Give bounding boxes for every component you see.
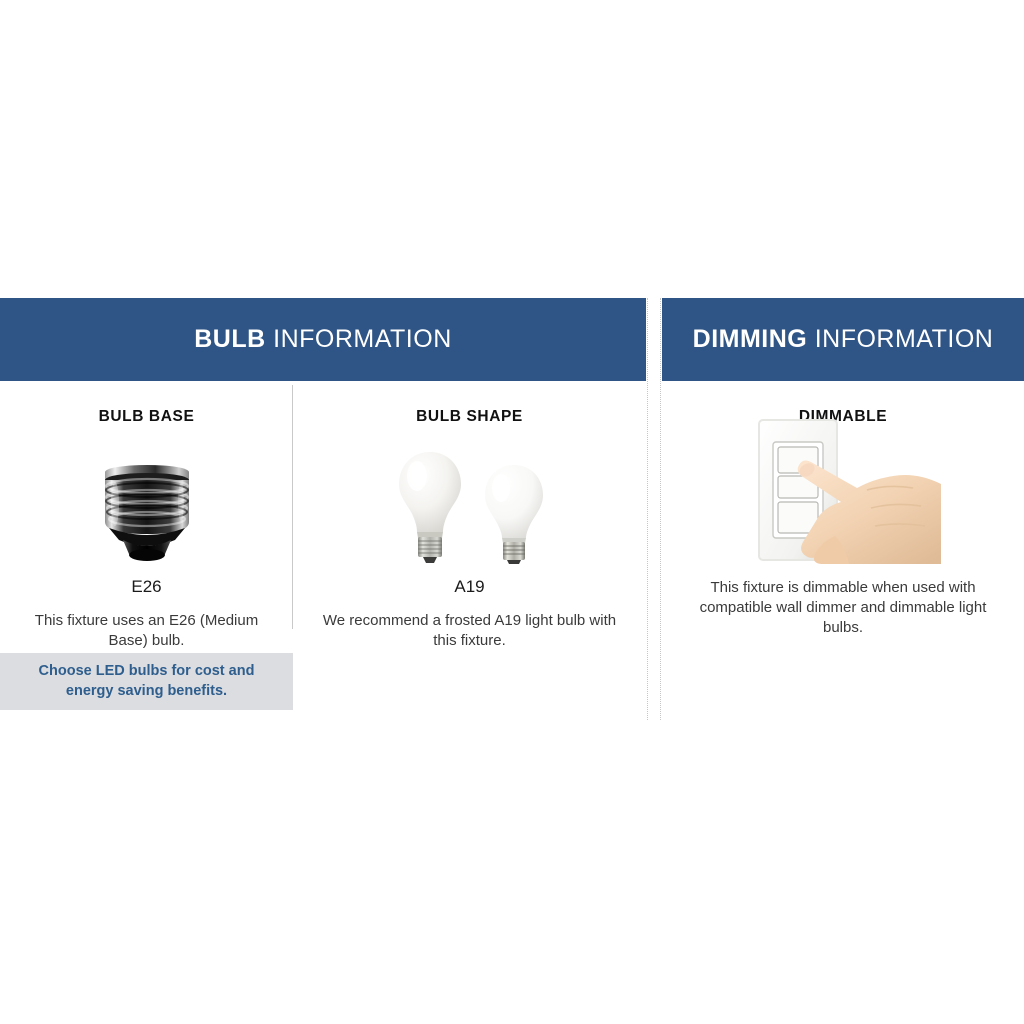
spec-label-bulb-base: E26 bbox=[0, 577, 293, 597]
panel-seam-left bbox=[647, 298, 648, 720]
panel-header-dimming-information: DIMMING INFORMATION bbox=[662, 298, 1024, 381]
figure-dimmable bbox=[662, 434, 1024, 564]
panel-title-dimming-information: DIMMING INFORMATION bbox=[693, 325, 994, 354]
column-bulb-shape: BULB SHAPE bbox=[293, 381, 646, 651]
panel-bulb-information: BULB INFORMATION BULB BASE bbox=[0, 298, 646, 651]
bulb-led-a19-icon bbox=[481, 462, 547, 564]
column-bulb-base: BULB BASE bbox=[0, 381, 293, 651]
panel-title-strong: DIMMING bbox=[693, 325, 808, 353]
spec-label-bulb-shape: A19 bbox=[293, 577, 646, 597]
panel-title-rest: INFORMATION bbox=[807, 325, 993, 353]
panel-seam-right bbox=[660, 298, 661, 720]
wall-dimmer-hand-icon bbox=[745, 414, 941, 564]
blurb-dimmable: This fixture is dimmable when used with … bbox=[662, 578, 1024, 637]
panel-title-rest: INFORMATION bbox=[266, 325, 452, 353]
panel-dimming-information: DIMMING INFORMATION DIMMABLE bbox=[662, 298, 1024, 637]
figure-bulb-shape bbox=[293, 434, 646, 564]
bulb-frosted-a19-icon bbox=[393, 448, 467, 564]
panel-header-bulb-information: BULB INFORMATION bbox=[0, 298, 646, 381]
panel-body-dimming-information: DIMMABLE bbox=[662, 381, 1024, 637]
e26-screw-base-icon bbox=[91, 460, 203, 564]
panel-body-bulb-information: BULB BASE bbox=[0, 381, 646, 651]
panel-title-strong: BULB bbox=[194, 325, 265, 353]
panel-title-bulb-information: BULB INFORMATION bbox=[194, 325, 452, 354]
led-tip-text: Choose LED bulbs for cost and energy sav… bbox=[0, 662, 293, 700]
blurb-bulb-base: This fixture uses an E26 (Medium Base) b… bbox=[0, 611, 293, 651]
blurb-bulb-shape: We recommend a frosted A19 light bulb wi… bbox=[293, 611, 646, 651]
sub-title-bulb-shape: BULB SHAPE bbox=[293, 408, 646, 426]
figure-bulb-base bbox=[0, 434, 293, 564]
spec-sheet-page: BULB INFORMATION BULB BASE bbox=[0, 0, 1024, 1024]
led-tip-callout: Choose LED bulbs for cost and energy sav… bbox=[0, 653, 293, 710]
sub-title-bulb-base: BULB BASE bbox=[0, 408, 293, 426]
a19-bulbs-icon bbox=[393, 448, 547, 564]
column-dimmable: DIMMABLE bbox=[662, 381, 1024, 637]
